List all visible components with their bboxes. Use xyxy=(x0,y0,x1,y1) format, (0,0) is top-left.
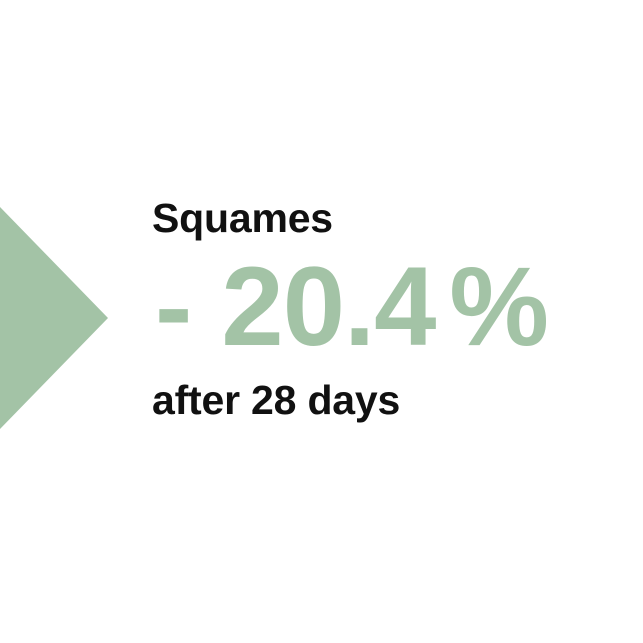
infographic-card: Squames - 20.4% after 28 days xyxy=(0,0,643,643)
stat-caption: after 28 days xyxy=(152,378,622,422)
triangle-right-icon xyxy=(0,207,108,429)
stat-value-unit: % xyxy=(449,244,548,369)
stat-value: - 20.4% xyxy=(155,248,622,366)
stat-value-number: - 20.4 xyxy=(155,244,435,369)
stat-block: Squames - 20.4% after 28 days xyxy=(152,196,622,422)
stat-title: Squames xyxy=(152,196,622,240)
